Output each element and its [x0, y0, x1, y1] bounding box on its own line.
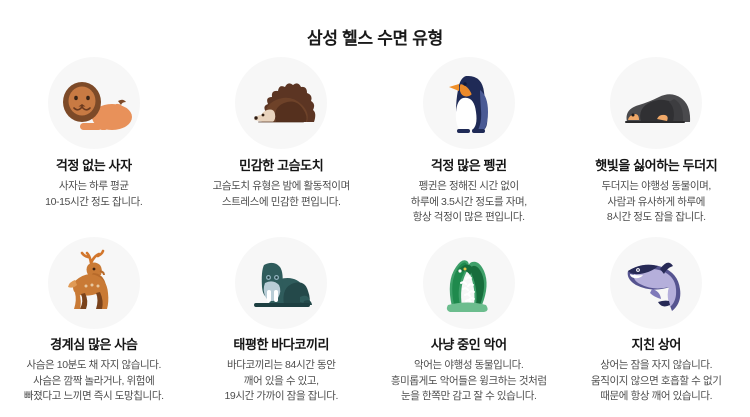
card-title: 지친 상어	[632, 334, 681, 353]
sleep-type-card-hedgehog[interactable]: 민감한 고슴도치 고슴도치 유형은 밤에 활동적이며 스트레스에 민감한 편입니…	[188, 57, 376, 237]
sleep-type-card-walrus[interactable]: 태평한 바다코끼리 바다코끼리는 84시간 동안 깨어 있을 수 있고, 19시…	[188, 237, 376, 417]
sleep-type-card-lion[interactable]: 걱정 없는 사자 사자는 하루 평균 10-15시간 정도 잡니다.	[0, 57, 188, 237]
deer-illustration-circle	[48, 237, 140, 329]
card-title: 햇빛을 싫어하는 두더지	[595, 155, 717, 174]
card-title: 민감한 고슴도치	[239, 155, 323, 174]
card-description: 두더지는 야행성 동물이며, 사람과 유사하게 하루에 8시간 정도 잠을 잡니…	[602, 179, 711, 226]
sleep-type-grid: 걱정 없는 사자 사자는 하루 평균 10-15시간 정도 잡니다. 민감한 고…	[0, 57, 750, 417]
sleep-type-card-penguin[interactable]: 걱정 많은 펭귄 펭귄은 정해진 시간 없이 하루에 3.5시간 정도를 자며,…	[375, 57, 563, 237]
walrus-icon	[242, 247, 320, 319]
hedgehog-illustration-circle	[235, 57, 327, 149]
penguin-illustration-circle	[423, 57, 515, 149]
card-description: 상어는 잠을 자지 않습니다. 움직이지 않으면 호흡할 수 없기 때문에 항상…	[591, 358, 721, 405]
sleep-type-infographic: 삼성 헬스 수면 유형	[0, 0, 750, 417]
lion-illustration-circle	[48, 57, 140, 149]
lion-icon	[55, 68, 133, 138]
page-title: 삼성 헬스 수면 유형	[307, 24, 443, 49]
card-description: 사자는 하루 평균 10-15시간 정도 잡니다.	[45, 179, 142, 210]
shark-illustration-circle	[610, 237, 702, 329]
card-title: 태평한 바다코끼리	[233, 334, 329, 353]
sleep-type-card-mole[interactable]: 햇빛을 싫어하는 두더지 두더지는 야행성 동물이며, 사람과 유사하게 하루에…	[563, 57, 750, 237]
penguin-icon	[430, 68, 508, 138]
card-description: 펭귄은 정해진 시간 없이 하루에 3.5시간 정도를 자며, 항상 걱정이 많…	[411, 179, 527, 226]
sleep-type-card-deer[interactable]: 경계심 많은 사슴 사슴은 10분도 채 자지 않습니다. 사슴은 깜짝 놀라거…	[0, 237, 188, 417]
crocodile-illustration-circle	[423, 237, 515, 329]
sleep-type-card-crocodile[interactable]: 사냥 중인 악어 악어는 야행성 동물입니다. 흥미롭게도 악어들은 윙크하는 …	[375, 237, 563, 417]
card-description: 사슴은 10분도 채 자지 않습니다. 사슴은 깜짝 놀라거나, 위험에 빠졌다…	[24, 358, 164, 405]
card-title: 사냥 중인 악어	[431, 334, 507, 353]
mole-icon	[617, 68, 695, 138]
mole-illustration-circle	[610, 57, 702, 149]
deer-icon	[55, 247, 133, 319]
card-title: 걱정 많은 펭귄	[431, 155, 507, 174]
card-title: 경계심 많은 사슴	[50, 334, 137, 353]
card-description: 바다코끼리는 84시간 동안 깨어 있을 수 있고, 19시간 가까이 잠을 잡…	[224, 358, 338, 405]
card-description: 악어는 야행성 동물입니다. 흥미롭게도 악어들은 윙크하는 것처럼 눈을 한쪽…	[391, 358, 547, 405]
walrus-illustration-circle	[235, 237, 327, 329]
card-title: 걱정 없는 사자	[56, 155, 132, 174]
shark-icon	[616, 247, 696, 319]
crocodile-icon	[430, 247, 508, 319]
sleep-type-card-shark[interactable]: 지친 상어 상어는 잠을 자지 않습니다. 움직이지 않으면 호흡할 수 없기 …	[563, 237, 750, 417]
hedgehog-icon	[242, 68, 320, 138]
card-description: 고슴도치 유형은 밤에 활동적이며 스트레스에 민감한 편입니다.	[213, 179, 350, 210]
